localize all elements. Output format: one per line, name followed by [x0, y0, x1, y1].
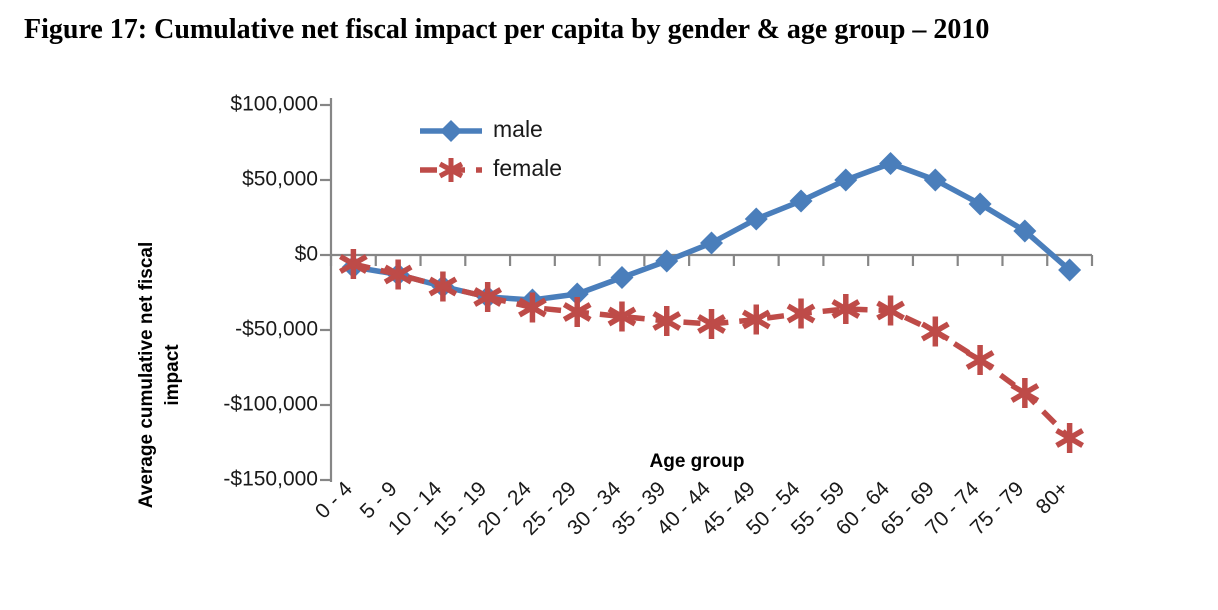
diamond-marker-icon	[924, 169, 947, 192]
y-tick-labels: $100,000 $50,000 $0 -$50,000 -$100,000 -…	[223, 93, 318, 491]
data-point-male[interactable]	[745, 208, 768, 231]
diamond-marker-icon	[834, 169, 857, 192]
y-axis-title-line1: Average cumulative net fiscal	[136, 242, 157, 508]
y-tick-label: -$50,000	[235, 318, 318, 341]
y-tick-label: -$100,000	[223, 393, 318, 416]
diamond-marker-icon	[879, 152, 902, 175]
data-point-male[interactable]	[834, 169, 857, 192]
data-point-male[interactable]	[879, 152, 902, 175]
series-female	[340, 249, 1082, 453]
figure-title: Figure 17: Cumulative net fiscal impact …	[24, 14, 1204, 46]
diamond-marker-icon	[745, 208, 768, 231]
data-point-female[interactable]	[967, 345, 993, 375]
y-axis-title-line2: impact	[162, 344, 183, 406]
legend-label-male: male	[493, 116, 543, 142]
x-axis-ticks	[331, 255, 1092, 266]
y-tick-label: $50,000	[242, 168, 318, 191]
data-point-male[interactable]	[655, 250, 678, 273]
data-point-female[interactable]	[1057, 423, 1083, 453]
y-tick-label: -$150,000	[223, 468, 318, 491]
y-tick-label: $100,000	[230, 93, 318, 116]
chart-container: Average cumulative net fiscal impact $10…	[0, 70, 1218, 610]
diamond-marker-icon	[790, 190, 813, 213]
diamond-marker-icon	[610, 266, 633, 289]
data-point-male[interactable]	[790, 190, 813, 213]
plot-series-layer	[340, 152, 1082, 453]
data-point-male[interactable]	[610, 266, 633, 289]
y-tick-label: $0	[295, 243, 318, 266]
x-axis-category-labels: 0 - 45 - 910 - 1415 - 1920 - 2425 - 2930…	[311, 477, 1073, 540]
diamond-marker-icon	[655, 250, 678, 273]
data-point-male[interactable]	[924, 169, 947, 192]
legend-item-male[interactable]: male	[420, 116, 543, 142]
y-axis-ticks	[320, 105, 331, 480]
legend-label-female: female	[493, 155, 562, 181]
y-axis-title: Average cumulative net fiscal impact	[136, 242, 183, 508]
chart-legend: male female	[420, 116, 562, 182]
asterisk-marker-icon	[1057, 423, 1083, 453]
x-axis-title: Age group	[650, 451, 745, 472]
legend-item-female[interactable]: female	[420, 155, 562, 182]
asterisk-marker-icon	[922, 317, 948, 347]
line-chart: Average cumulative net fiscal impact $10…	[0, 70, 1218, 610]
diamond-marker-icon	[700, 232, 723, 255]
data-point-female[interactable]	[922, 317, 948, 347]
diamond-marker-icon	[440, 120, 462, 142]
data-point-male[interactable]	[700, 232, 723, 255]
asterisk-marker-icon	[967, 345, 993, 375]
x-axis-category-label: 80+	[1032, 477, 1073, 518]
